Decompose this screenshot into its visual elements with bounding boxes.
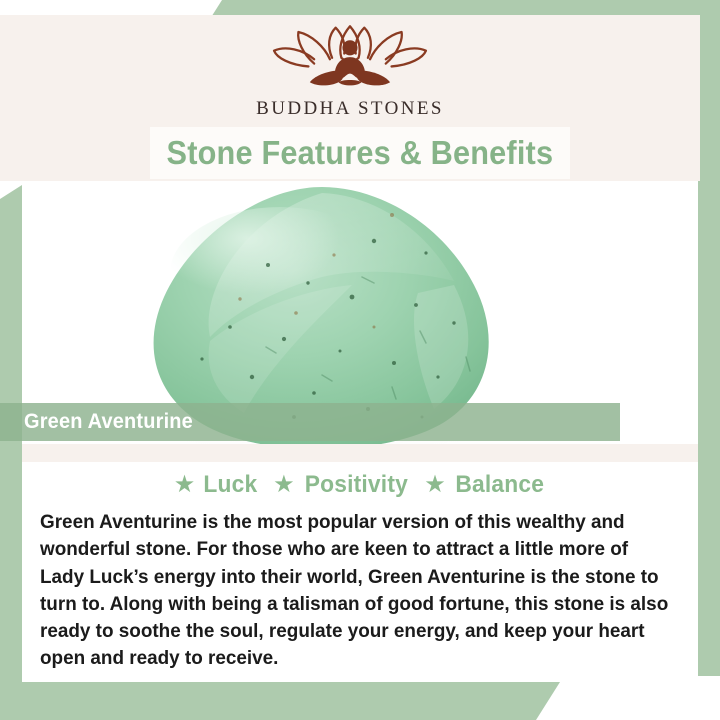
- star-icon: ★: [424, 473, 446, 497]
- benefits-description: Green Aventurine is the most popular ver…: [40, 509, 670, 673]
- brand-wordmark: BUDDHA STONES: [256, 98, 444, 120]
- page-title: Stone Features & Benefits: [167, 134, 554, 172]
- frame-band-bottom: [0, 682, 560, 720]
- benefit-keyword-positivity: ★ Positivity: [273, 471, 410, 499]
- product-info-poster: BUDDHA STONES Stone Features & Benefits: [0, 0, 720, 720]
- benefit-keywords: ★ Luck ★ Positivity ★ Balance: [34, 471, 686, 499]
- frame-band-left: [0, 185, 22, 720]
- benefits-section: ★ Luck ★ Positivity ★ Balance Green Aven…: [22, 462, 698, 682]
- star-icon: ★: [273, 473, 295, 497]
- star-icon: ★: [174, 473, 196, 497]
- title-banner: Stone Features & Benefits: [150, 127, 570, 179]
- stone-name-band: Green Aventurine: [0, 403, 620, 441]
- lotus-meditation-icon: [264, 22, 436, 94]
- benefit-keyword-luck: ★ Luck: [174, 471, 259, 499]
- brand-logo: BUDDHA STONES: [0, 22, 700, 120]
- stone-name-label: Green Aventurine: [24, 410, 193, 434]
- benefit-keyword-label: Balance: [455, 471, 544, 499]
- section-divider: [22, 444, 698, 462]
- benefit-keyword-label: Positivity: [304, 471, 407, 499]
- benefit-keyword-balance: ★ Balance: [424, 471, 546, 499]
- frame-band-right: [698, 0, 720, 676]
- benefit-keyword-label: Luck: [204, 471, 258, 499]
